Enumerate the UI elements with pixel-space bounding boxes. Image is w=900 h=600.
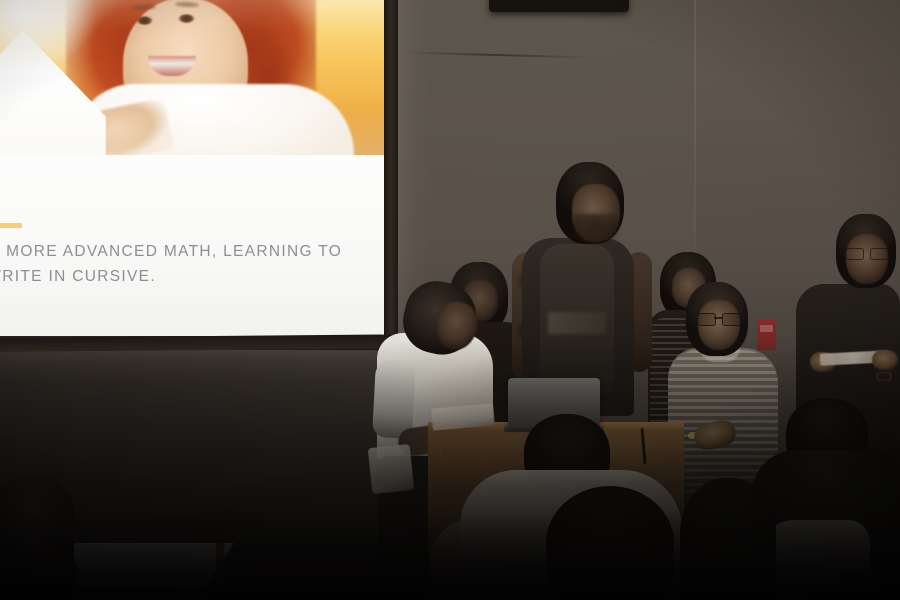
slide-accent-bar <box>0 223 22 228</box>
screen-edge-right <box>384 0 396 344</box>
slide-photo <box>0 0 384 156</box>
classroom-presentation-photo: RNING MORE ADVANCED MATH, LEARNING TO AN… <box>0 0 900 600</box>
slide-photo-softness <box>0 0 384 156</box>
projection-screen-frame: RNING MORE ADVANCED MATH, LEARNING TO AN… <box>0 0 398 350</box>
room-floor-shadow <box>0 340 900 600</box>
person-tank-top-beard <box>572 214 618 244</box>
eyeglasses-icon <box>697 313 741 324</box>
projection-screen: RNING MORE ADVANCED MATH, LEARNING TO AN… <box>0 0 384 336</box>
eyeglasses-icon-reader <box>845 248 889 258</box>
person-tank-top-print <box>548 312 606 334</box>
slide-text: RNING MORE ADVANCED MATH, LEARNING TO AN… <box>0 239 384 289</box>
wall-mounted-unit <box>489 0 629 12</box>
